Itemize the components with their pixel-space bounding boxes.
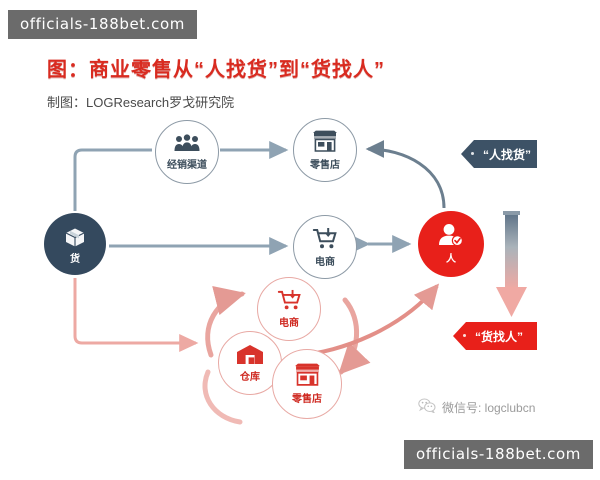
watermark-bottom: officials-188bet.com bbox=[404, 440, 593, 469]
node-label: 零售店 bbox=[310, 161, 340, 171]
node-label: 经销渠道 bbox=[167, 161, 207, 171]
node-ecommerce-red[interactable]: 电商 bbox=[257, 277, 321, 341]
node-retail-store-top[interactable]: 零售店 bbox=[293, 118, 357, 182]
box-icon bbox=[62, 224, 88, 253]
node-person[interactable]: 人 bbox=[418, 211, 484, 277]
node-ecommerce-top[interactable]: 电商 bbox=[293, 215, 357, 279]
tag-people-seek-goods[interactable]: “人找货” bbox=[461, 140, 537, 168]
arc-ecommerce-to-retail bbox=[341, 300, 357, 372]
wechat-credit: 微信号: logclubcn bbox=[418, 398, 535, 416]
storefront-icon bbox=[294, 363, 321, 392]
tag-dot bbox=[471, 152, 474, 155]
tag-label: “人找货” bbox=[483, 146, 531, 163]
cart-icon bbox=[277, 289, 302, 316]
tag-dot bbox=[463, 334, 466, 337]
node-distribution-channel[interactable]: 经销渠道 bbox=[155, 120, 219, 184]
node-label: 仓库 bbox=[240, 373, 260, 383]
person-check-icon bbox=[436, 223, 466, 254]
wechat-icon bbox=[418, 398, 436, 416]
watermark-top: officials-188bet.com bbox=[8, 10, 197, 39]
edge-goods-to-warehouse bbox=[75, 278, 196, 343]
tag-label: “货找人” bbox=[475, 328, 523, 345]
node-goods[interactable]: 货 bbox=[44, 213, 106, 275]
storefront-icon bbox=[312, 130, 338, 158]
gradient-transition-arrow bbox=[496, 211, 527, 317]
node-label: 零售店 bbox=[292, 395, 322, 405]
node-label: 货 bbox=[70, 255, 80, 265]
wechat-label: 微信号: logclubcn bbox=[442, 399, 535, 416]
warehouse-icon bbox=[236, 344, 264, 370]
node-retail-store-red[interactable]: 零售店 bbox=[272, 349, 342, 419]
cart-icon bbox=[312, 227, 338, 255]
people-icon bbox=[173, 133, 201, 158]
diagram-canvas: 货 经销渠道 bbox=[0, 0, 600, 480]
edge-cluster-to-person bbox=[300, 286, 437, 355]
node-label: 人 bbox=[446, 255, 456, 265]
edge-person-to-retail-curve bbox=[368, 149, 444, 208]
edge-goods-to-channel bbox=[75, 150, 152, 211]
page-subtitle: 制图：LOGResearch罗戈研究院 bbox=[47, 92, 234, 111]
node-label: 电商 bbox=[279, 319, 299, 329]
tag-goods-seek-people[interactable]: “货找人” bbox=[453, 322, 537, 350]
node-label: 电商 bbox=[315, 258, 335, 268]
page-title: 图：商业零售从“人找货”到“货找人” bbox=[47, 53, 385, 82]
